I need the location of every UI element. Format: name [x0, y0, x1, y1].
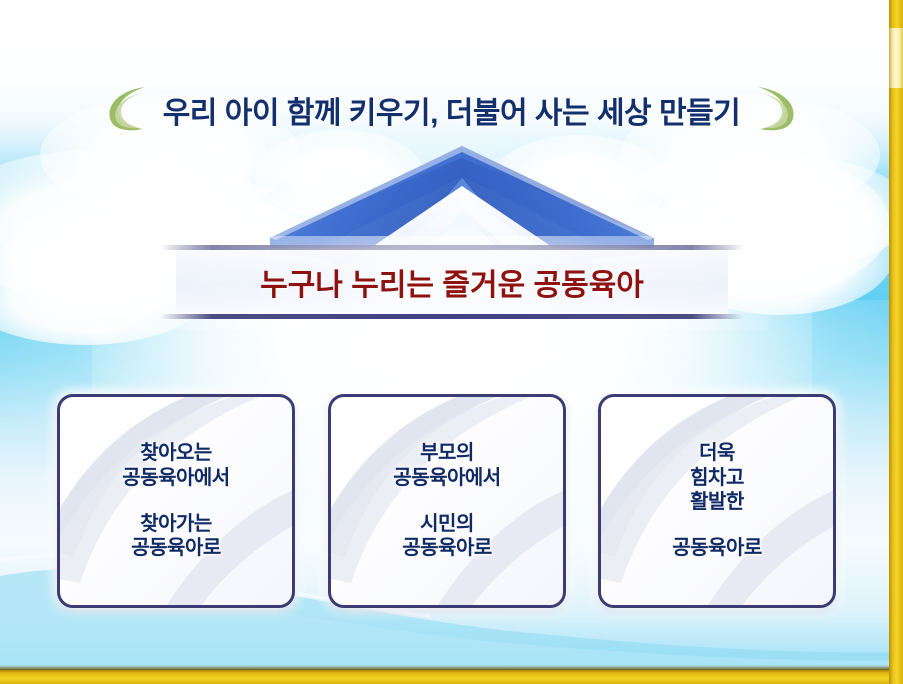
card-line: 공동육아로	[672, 536, 762, 560]
card-line: 찾아가는	[122, 512, 229, 536]
card-line: 공동육아에서	[122, 466, 229, 490]
card-text-gap	[122, 490, 229, 512]
card-row: 찾아오는 공동육아에서 찾아가는 공동육아로 부모의 공동육아에서 시민의 공동…	[57, 394, 846, 604]
card-line: 더욱	[672, 441, 762, 465]
slide-canvas: 우리 아이 함께 키우기, 더불어 사는 세상 만들기 누구나 누리는 즐거운 …	[0, 0, 903, 684]
headline-banner: 누구나 누리는 즐거운 공동육아	[176, 248, 728, 316]
card-line: 찾아오는	[122, 441, 229, 465]
card-line: 힘차고	[672, 466, 762, 490]
crescent-right-icon	[754, 83, 800, 138]
card-line: 부모의	[393, 441, 500, 465]
card-text-block: 부모의 공동육아에서 시민의 공동육아로	[393, 441, 500, 561]
card-vigorous[interactable]: 더욱 힘차고 활발한 공동육아로	[598, 394, 836, 608]
card-text-block: 찾아오는 공동육아에서 찾아가는 공동육아로	[122, 441, 229, 561]
card-text-gap	[393, 490, 500, 512]
card-line: 공동육아로	[122, 536, 229, 560]
slide-title-row: 우리 아이 함께 키우기, 더불어 사는 세상 만들기	[0, 82, 903, 138]
page-title: 우리 아이 함께 키우기, 더불어 사는 세상 만들기	[163, 88, 741, 132]
card-visiting[interactable]: 찾아오는 공동육아에서 찾아가는 공동육아로	[57, 394, 295, 608]
frame-bottom-gold	[0, 670, 903, 684]
crescent-left-icon	[103, 83, 149, 138]
card-line: 공동육아에서	[393, 466, 500, 490]
frame-right-gold	[889, 0, 903, 684]
frame-right-highlight	[889, 28, 903, 88]
card-text-block: 더욱 힘차고 활발한 공동육아로	[672, 441, 762, 561]
banner-title: 누구나 누리는 즐거운 공동육아	[260, 260, 644, 304]
card-line: 활발한	[672, 490, 762, 514]
card-parents-citizens[interactable]: 부모의 공동육아에서 시민의 공동육아로	[328, 394, 566, 608]
card-line: 공동육아로	[393, 536, 500, 560]
card-line: 시민의	[393, 512, 500, 536]
card-text-gap	[672, 514, 762, 536]
